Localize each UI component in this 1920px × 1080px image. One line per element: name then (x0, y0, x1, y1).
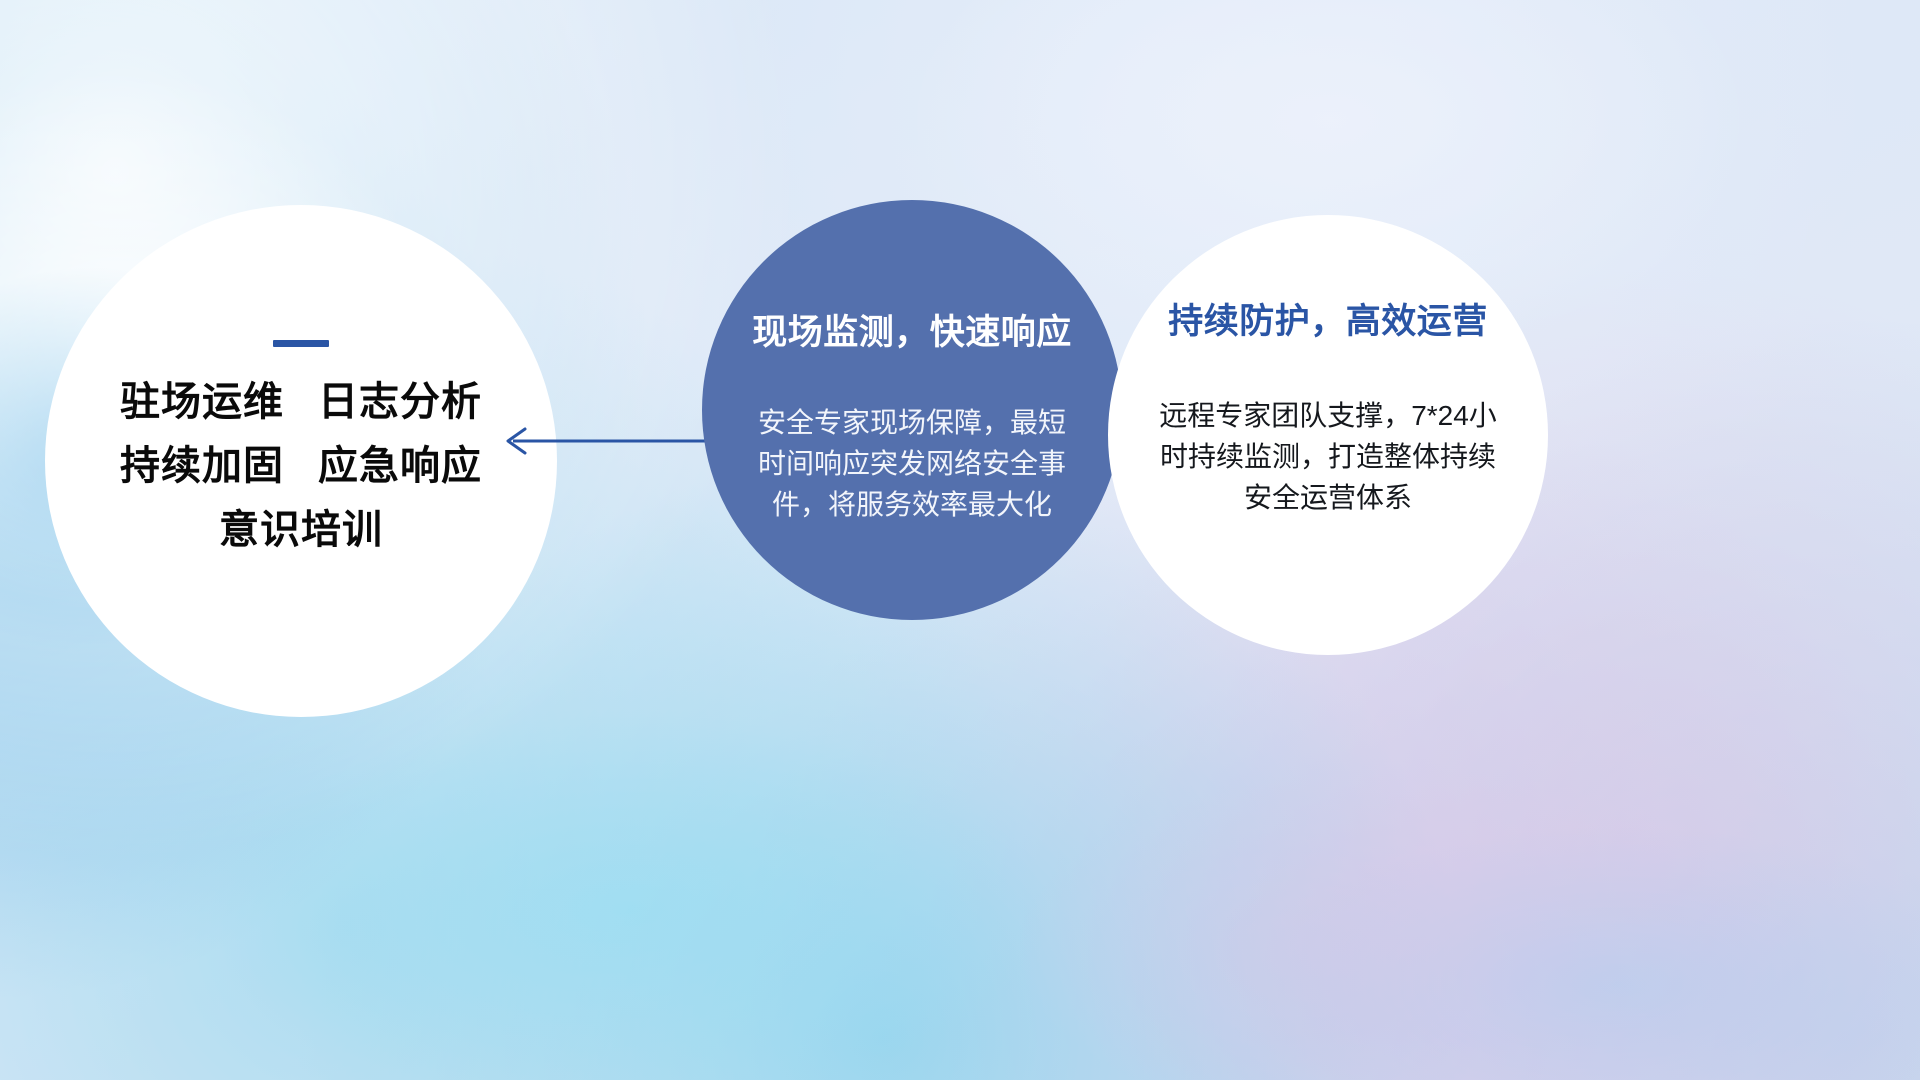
background-glow-bottom-left (180, 700, 1080, 1080)
right-circle-body: 远程专家团队支撑，7*24小时持续监测，打造整体持续安全运营体系 (1148, 396, 1508, 519)
middle-circle-heading: 现场监测，快速响应 (752, 304, 1072, 355)
capability-item-yingjixiangying: 应急响应 (318, 444, 482, 488)
background-glow-corner-right (1240, 820, 1920, 1080)
middle-service-circle[interactable]: 现场监测，快速响应 安全专家现场保障，最短时间响应突发网络安全事件，将服务效率最… (702, 200, 1122, 620)
background-glow-bottom-right (1000, 760, 1820, 1080)
capability-item-rizhifenxi: 日志分析 (318, 380, 482, 424)
capability-row-3: 意识培训 (120, 509, 482, 552)
capability-list: 驻场运维日志分析 持续加固应急响应 意识培训 (120, 381, 482, 553)
capability-row-2: 持续加固应急响应 (120, 445, 482, 488)
capability-item-chixujiagu: 持续加固 (120, 444, 284, 488)
middle-circle-body: 安全专家现场保障，最短时间响应突发网络安全事件，将服务效率最大化 (747, 403, 1077, 526)
capability-item-yishipeixun: 意识培训 (219, 508, 383, 552)
divider-dash-icon (273, 340, 329, 347)
slide-canvas: 驻场运维日志分析 持续加固应急响应 意识培训 现场监测，快速响应 安全专家现场保… (0, 0, 1920, 1080)
right-service-circle[interactable]: 持续防护，高效运营 远程专家团队支撑，7*24小时持续监测，打造整体持续安全运营… (1108, 215, 1548, 655)
left-capability-circle[interactable]: 驻场运维日志分析 持续加固应急响应 意识培训 (45, 205, 557, 717)
capability-row-1: 驻场运维日志分析 (120, 381, 482, 424)
right-circle-heading: 持续防护，高效运营 (1168, 293, 1488, 344)
capability-item-zhuchangyunwei: 驻场运维 (120, 380, 284, 424)
